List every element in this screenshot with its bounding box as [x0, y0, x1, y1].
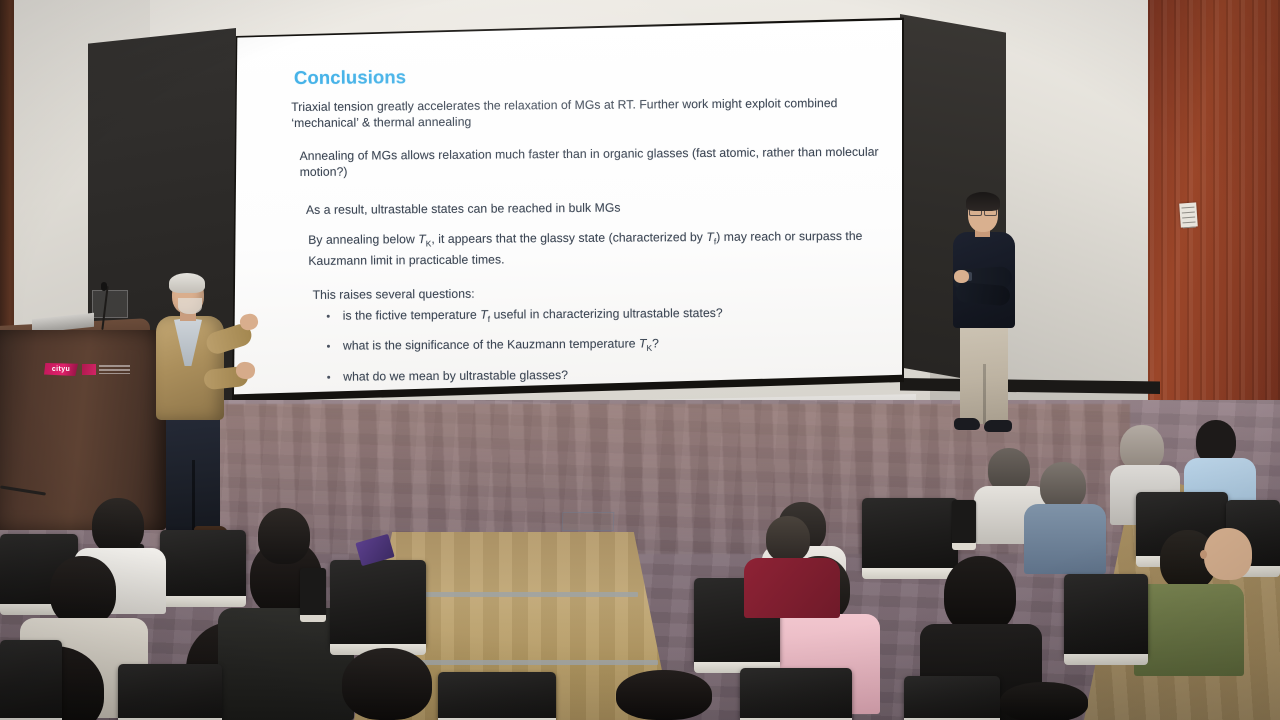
slide-paragraph-2: Annealing of MGs allows relaxation much … [300, 144, 880, 181]
seat[interactable] [862, 498, 958, 570]
audience-ear [1200, 550, 1207, 559]
audience-body [1024, 504, 1106, 574]
audience-head [92, 498, 144, 554]
slide-paragraph-3: As a result, ultrastable states can be r… [306, 198, 886, 219]
seat[interactable] [0, 640, 62, 720]
p4-pre: By annealing below [308, 232, 418, 247]
slide-paragraph-1: Triaxial tension greatly accelerates the… [291, 95, 871, 132]
cityu-logo-mark: cityu [44, 363, 78, 376]
audience-head [342, 648, 432, 720]
microphone-icon [101, 282, 107, 291]
slide-bullet-item: is the fictive temperature Tf useful in … [321, 304, 881, 329]
audience-head [766, 516, 810, 562]
standing-attendee [944, 196, 1026, 440]
projection-screen: Conclusions Triaxial tension greatly acc… [234, 18, 902, 410]
seat[interactable] [330, 560, 426, 646]
seat[interactable] [118, 664, 222, 720]
attendee-leg-split [983, 364, 986, 424]
p4-symbol-tf: T [706, 230, 714, 244]
lecture-hall-photo: Conclusions Triaxial tension greatly acc… [0, 0, 1280, 720]
attendee-right-shoe [984, 420, 1012, 432]
podium-logo: cityu [44, 362, 130, 378]
seat[interactable] [438, 672, 556, 720]
bullet2-pre: what is the significance of the Kauzmann… [343, 337, 639, 353]
bullet1-post: useful in characterizing ultrastable sta… [490, 306, 723, 322]
presenter-speaker [148, 276, 256, 546]
door-notice-sign [1179, 202, 1198, 227]
slide-bullet-item: what is the significance of the Kauzmann… [321, 334, 881, 359]
cityu-logo-wordmark [99, 365, 130, 374]
seat-armrest [300, 568, 326, 616]
audience-head [1040, 462, 1086, 510]
audience-head [616, 670, 712, 720]
p4-symbol-tk: T [418, 232, 426, 246]
bullet2-post: ? [652, 337, 659, 351]
attendee-hand [954, 270, 969, 283]
audience-head [50, 556, 116, 626]
bullet2-symbol: T [639, 337, 647, 351]
speaker-leg-split [192, 460, 195, 532]
audience-head [1000, 682, 1088, 720]
attendee-left-shoe [954, 418, 980, 430]
audience-body [744, 558, 840, 618]
seat[interactable] [160, 530, 246, 598]
audience-body [1134, 584, 1244, 676]
bullet1-pre: is the fictive temperature [343, 308, 481, 323]
floor-vent [562, 512, 615, 531]
seat-armrest [952, 500, 976, 544]
cityu-logo-chinese [82, 364, 96, 375]
speaker-beard [178, 298, 202, 314]
podium-wall-plate [92, 290, 128, 318]
audience-head [944, 556, 1016, 634]
attendee-hair [966, 192, 1000, 211]
bullet3-pre: what do we mean by ultrastable glasses? [343, 368, 568, 384]
p4-mid: , it appears that the glassy state (char… [431, 230, 706, 246]
slide-title: Conclusions [294, 66, 406, 89]
audience-head [1204, 528, 1252, 580]
seat[interactable] [904, 676, 1000, 720]
seat[interactable] [1064, 574, 1148, 656]
seat[interactable] [740, 668, 852, 720]
speaker-hair [169, 273, 205, 293]
slide-questions-lead: This raises several questions: [313, 283, 893, 304]
audience-head [258, 508, 310, 564]
lectern-podium [0, 330, 168, 530]
presentation-slide: Conclusions Triaxial tension greatly acc… [234, 18, 902, 410]
bullet1-symbol: T [480, 308, 488, 322]
slide-paragraph-4: By annealing below TK, it appears that t… [308, 228, 888, 270]
speaker-right-hand [235, 361, 256, 380]
